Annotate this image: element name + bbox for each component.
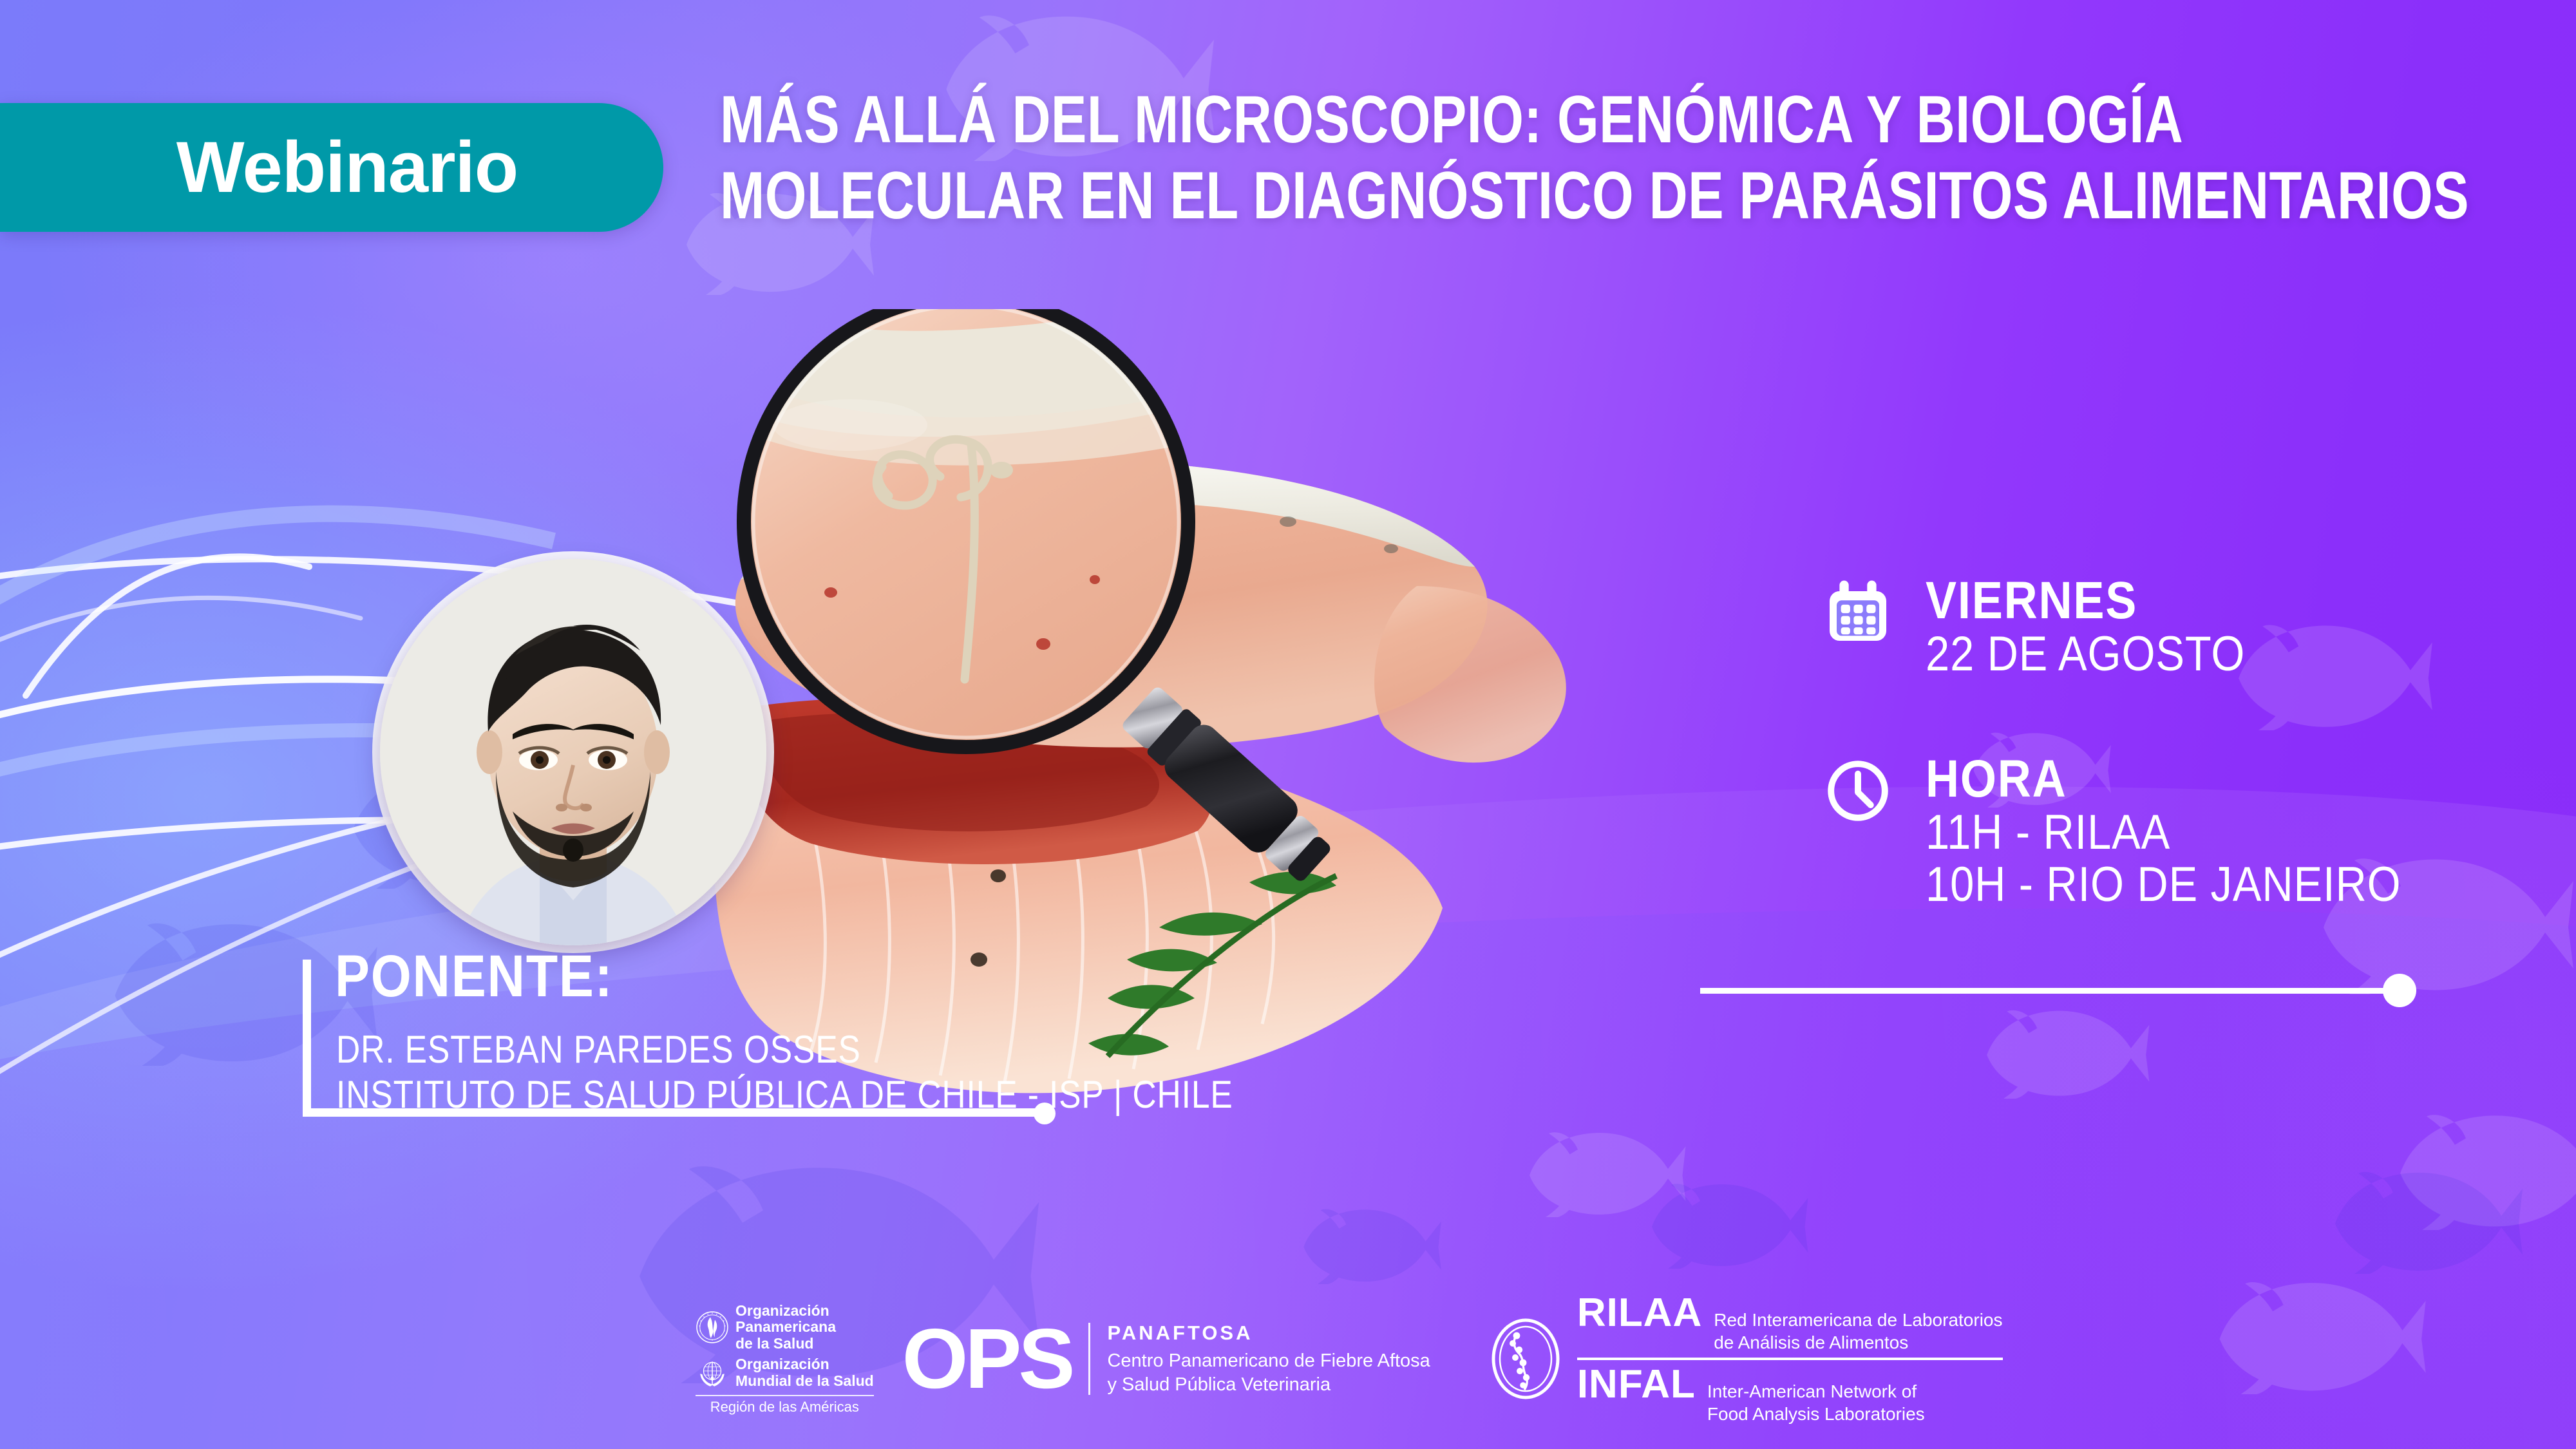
paho-emblem-icon bbox=[696, 1311, 729, 1344]
date-detail: 22 DE AGOSTO bbox=[1926, 628, 2401, 680]
paho-org-line-3: de la Salud bbox=[735, 1336, 836, 1352]
schedule-time-row: HORA 11H - RILAA 10H - RIO DE JANEIRO bbox=[1823, 752, 2467, 911]
rilaa-emblem-icon bbox=[1490, 1316, 1562, 1401]
paho-org-line-2: Panamericana bbox=[735, 1319, 836, 1336]
calendar-icon bbox=[1823, 577, 1893, 648]
title-line-1: MÁS ALLÁ DEL MICROSCOPIO: GENÓMICA Y BIO… bbox=[720, 82, 2121, 158]
rilaa-acronym: RILAA bbox=[1577, 1293, 1702, 1333]
paho-region-label: Región de las Américas bbox=[696, 1395, 874, 1416]
panaftosa-sub-1: Centro Panamericano de Fiebre Aftosa bbox=[1107, 1349, 1430, 1372]
time-detail-1: 11H - RILAA bbox=[1926, 806, 2401, 858]
panaftosa-sub-2: y Salud Pública Veterinaria bbox=[1107, 1373, 1430, 1396]
rilaa-sub-es-1: Red Interamericana de Laboratorios bbox=[1714, 1309, 2002, 1331]
ops-acronym: OPS bbox=[902, 1316, 1072, 1401]
panaftosa-title: PANAFTOSA bbox=[1107, 1321, 1430, 1345]
infal-sub-en-1: Inter-American Network of bbox=[1707, 1380, 1925, 1403]
rilaa-infal-logo: RILAA Red Interamericana de Laboratorios… bbox=[1490, 1293, 2003, 1425]
title-line-2: MOLECULAR EN EL DIAGNÓSTICO DE PARÁSITOS… bbox=[720, 158, 2121, 234]
webinar-badge-label: Webinario bbox=[146, 131, 518, 204]
footer-divider-1 bbox=[1088, 1323, 1090, 1395]
webinar-badge: Webinario bbox=[0, 103, 663, 232]
time-heading: HORA bbox=[1926, 752, 2401, 806]
schedule-date-row: VIERNES 22 DE AGOSTO bbox=[1823, 573, 2467, 681]
footer-logos: Organización Panamericana de la Salud bbox=[696, 1301, 2003, 1417]
who-org-line-2: Mundial de la Salud bbox=[735, 1373, 874, 1390]
speaker-line-dot bbox=[1034, 1103, 1056, 1124]
schedule-underline bbox=[1700, 988, 2402, 994]
speaker-avatar bbox=[380, 559, 766, 945]
infal-acronym: INFAL bbox=[1577, 1364, 1696, 1405]
time-detail-2: 10H - RIO DE JANEIRO bbox=[1926, 858, 2401, 911]
paho-org-line-1: Organización bbox=[735, 1303, 836, 1320]
webinar-poster: Webinario MÁS ALLÁ DEL MICROSCOPIO: GENÓ… bbox=[0, 0, 2576, 1449]
speaker-name: DR. ESTEBAN PAREDES OSSES bbox=[336, 1030, 861, 1069]
paho-logo: Organización Panamericana de la Salud bbox=[696, 1303, 1072, 1416]
rilaa-divider bbox=[1577, 1358, 2003, 1360]
clock-icon bbox=[1823, 755, 1893, 826]
who-org-line-1: Organización bbox=[735, 1356, 874, 1373]
rilaa-sub-es-2: de Análisis de Alimentos bbox=[1714, 1331, 2002, 1354]
speaker-label: PONENTE: bbox=[335, 947, 613, 1006]
who-emblem-icon bbox=[696, 1356, 729, 1390]
page-title: MÁS ALLÁ DEL MICROSCOPIO: GENÓMICA Y BIO… bbox=[720, 82, 2121, 234]
panaftosa-logo: PANAFTOSA Centro Panamericano de Fiebre … bbox=[1107, 1321, 1430, 1396]
date-heading: VIERNES bbox=[1926, 573, 2401, 628]
speaker-affiliation: INSTITUTO DE SALUD PÚBLICA DE CHILE - IS… bbox=[336, 1075, 1233, 1114]
infal-sub-en-2: Food Analysis Laboratories bbox=[1707, 1403, 1925, 1425]
schedule-underline-dot bbox=[2383, 974, 2416, 1007]
schedule-block: VIERNES 22 DE AGOSTO HORA 11H - RILAA 10… bbox=[1823, 573, 2467, 981]
